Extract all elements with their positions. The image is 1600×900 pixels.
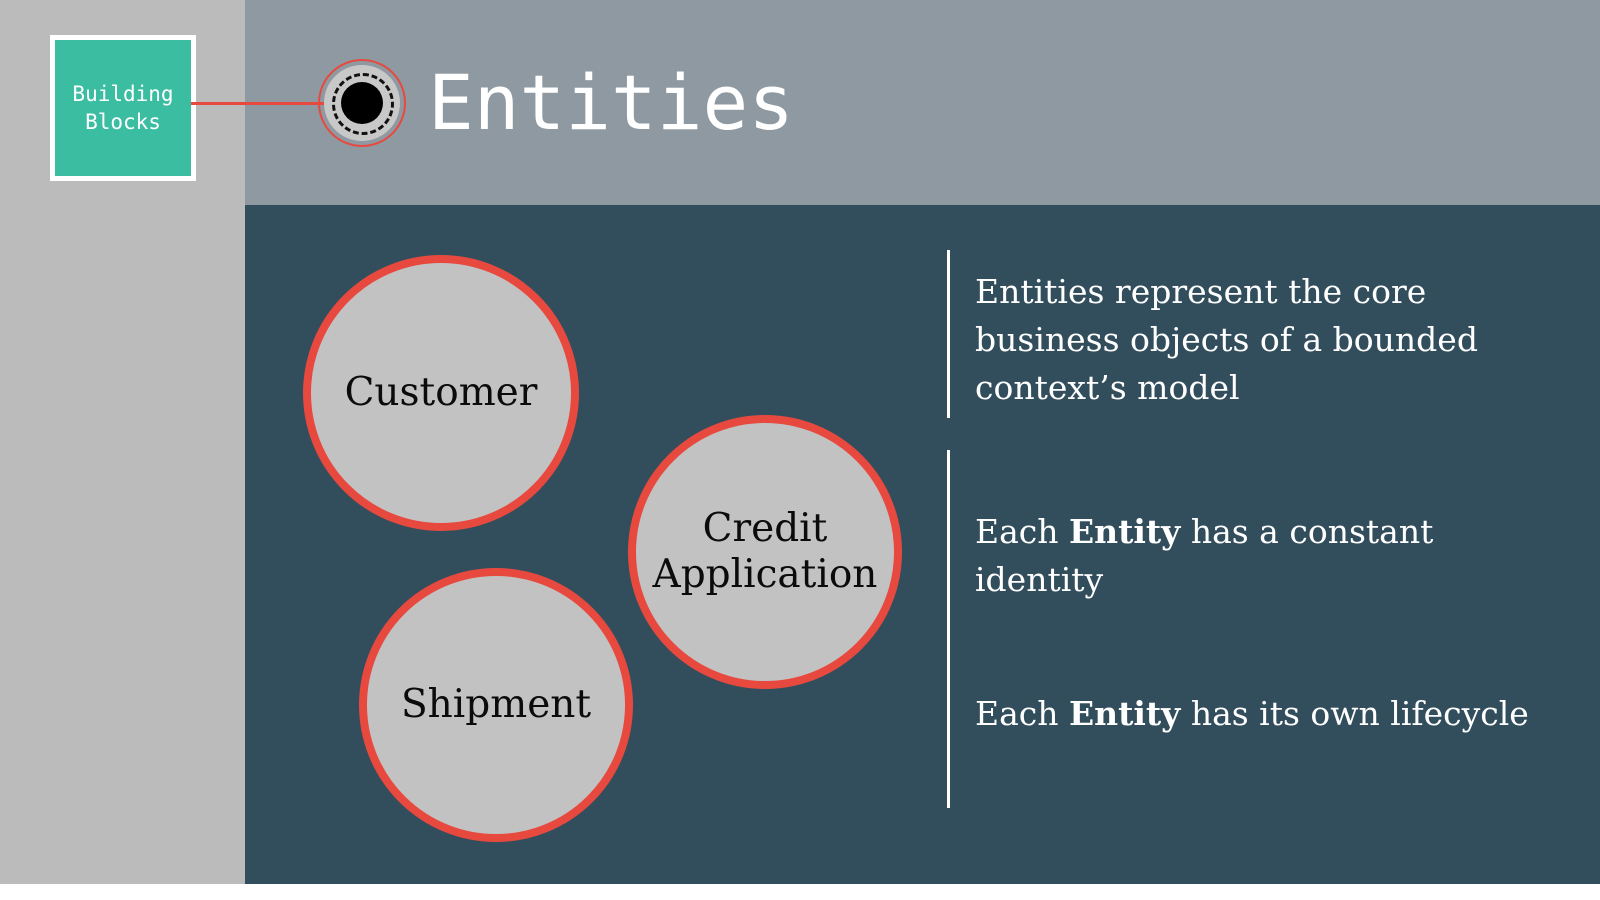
section-chip-label: Building Blocks — [72, 80, 173, 137]
entity-bubble-shipment[interactable]: Shipment — [359, 568, 633, 842]
entity-bubble-label: Shipment — [391, 682, 601, 728]
entity-bubble-customer[interactable]: Customer — [303, 255, 579, 531]
section-chip-building-blocks[interactable]: Building Blocks — [50, 35, 196, 181]
slide-canvas: Building Blocks Entities Customer Credit… — [0, 0, 1600, 900]
statement-text-pre: Each — [975, 694, 1069, 733]
statement-text-strong: Entity — [1069, 512, 1180, 551]
page-title: Entities — [428, 58, 794, 148]
statement-text: Each Entity has its own lifecycle — [975, 632, 1547, 738]
connector-line — [191, 102, 331, 105]
statement-item: Entities represent the core business obj… — [947, 250, 1547, 412]
entity-bubble-label: Credit Application — [643, 506, 888, 597]
statement-text: Entities represent the core business obj… — [975, 250, 1547, 412]
statement-item: Each Entity has a constant identity — [947, 450, 1547, 604]
bottom-strip — [0, 884, 1600, 900]
target-bullet-icon — [318, 59, 406, 147]
statement-rule — [947, 450, 950, 646]
statement-text-strong: Entity — [1069, 694, 1180, 733]
statement-text-pre: Entities represent the core business obj… — [975, 272, 1478, 407]
statement-item: Each Entity has its own lifecycle — [947, 632, 1547, 738]
statement-text-post: has its own lifecycle — [1180, 694, 1528, 733]
statement-rule — [947, 632, 950, 808]
statement-list: Entities represent the core business obj… — [947, 250, 1547, 738]
entity-bubble-credit-application[interactable]: Credit Application — [628, 415, 902, 689]
icon-center-dot — [341, 82, 383, 124]
entity-bubble-label: Customer — [335, 370, 548, 416]
statement-text: Each Entity has a constant identity — [975, 450, 1547, 604]
statement-text-pre: Each — [975, 512, 1069, 551]
statement-rule — [947, 250, 950, 418]
